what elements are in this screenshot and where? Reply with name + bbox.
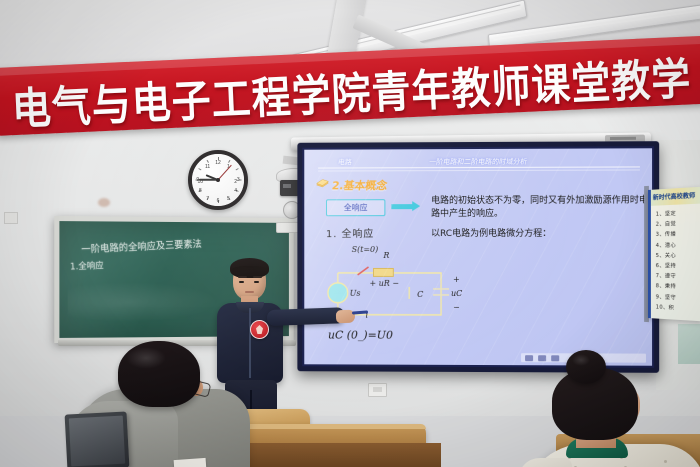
paper-sheet [174,458,207,467]
blackboard-line-2: 1.全响应 [70,258,104,272]
wall-poster: 新时代高校教师 1、坚定 2、自觉 3、传播 4、潜心 5、关心 6、坚持 7、… [648,187,700,322]
teacher-hair [230,258,269,278]
student-left [78,341,243,467]
poster-list-item: 3、传播 [656,229,700,240]
slide-item-num-text: 1. [326,229,337,240]
slide-tag-box: 全响应 [326,199,385,216]
hair-bun [566,350,606,384]
slide-section-title: 2.基本概念 [331,177,389,193]
slide-header-right: 一阶电路和二阶电路的时域分析 [428,157,527,167]
slide-header-left: 电路 [337,157,352,167]
student-right [530,348,700,467]
wall-clock: 12 1 2 3 4 5 6 7 8 9 10 11 [188,150,248,210]
laptop[interactable] [65,411,130,467]
arrow-right-icon [391,204,413,209]
wall-switch-plate [4,212,18,224]
clock-second-hand [218,165,232,181]
poster-list-item: 10、积 [656,302,700,315]
circuit-capacitor-label: C [417,290,423,299]
clock-number-8: 8 [199,188,202,194]
wall-stain [98,198,110,207]
circuit-resistor-voltage: + uR − [370,279,399,288]
slide-equation: uC (0_)=U0 [328,329,393,342]
slide-item-label-text: 全响应 [342,229,375,240]
book-icon [316,179,329,187]
front-desk [236,443,441,467]
circuit-switch-label: S(t=0) [352,245,378,254]
chalk-dust [68,282,219,323]
wall-outlet [368,383,387,397]
circuit-minus-sign: − [453,303,460,312]
clock-number-5: 5 [227,196,230,202]
clock-number-3: 3 [237,177,240,183]
clock-number-6: 6 [217,198,220,204]
teacher-badge-icon [250,320,269,339]
teacher-pointing-arm [267,307,346,326]
poster-list: 1、坚定 2、自觉 3、传播 4、潜心 5、关心 6、坚持 7、遵守 8、秉持 … [656,208,700,315]
poster-list-item: 6、坚持 [656,261,700,272]
circuit-resistor-label: R [383,251,389,260]
poster-list-item: 4、潜心 [656,240,700,251]
interactive-display[interactable]: 电路 一阶电路和二阶电路的时域分析 2.基本概念 全响应 电路的初始状态不为零，… [297,141,659,373]
slide-item-detail: 以RC电路为例电路微分方程： [431,226,551,239]
laptop-screen[interactable] [69,416,125,467]
slide-header-rule-2 [318,169,640,171]
teacher-mouth [245,291,254,293]
slide-item-number: 1. 全响应 [326,225,374,240]
circuit-capacitor-voltage: uC [451,289,462,298]
clock-face: 12 1 2 3 4 5 6 7 8 9 10 11 [192,154,244,206]
slide-header-rule [318,166,640,168]
clock-center-pin [216,178,220,182]
student-left-hair [118,341,200,407]
slide-tag-label: 全响应 [327,202,384,213]
student-right-arm [518,458,572,467]
slide-screen[interactable]: 电路 一阶电路和二阶电路的时域分析 2.基本概念 全响应 电路的初始状态不为零，… [304,148,652,365]
clock-number-11: 11 [205,164,210,170]
slide-definition: 电路的初始状态不为零，同时又有外加激励源作用时电路中产生的响应。 [431,195,650,221]
clock-number-4: 4 [234,188,237,194]
teacher-zipper [249,308,251,378]
circuit-source-label: Us [350,289,361,298]
poster-list-item: 5、关心 [656,251,700,262]
classroom-scene: 电气与电子工程学院青年教师课堂教学 12 1 2 3 4 5 6 7 8 9 [0,0,700,467]
clock-number-12: 12 [215,160,221,166]
circuit-plus-sign: + [453,275,460,284]
clock-number-7: 7 [206,196,209,202]
slide-header: 电路 一阶电路和二阶电路的时域分析 [318,156,640,171]
